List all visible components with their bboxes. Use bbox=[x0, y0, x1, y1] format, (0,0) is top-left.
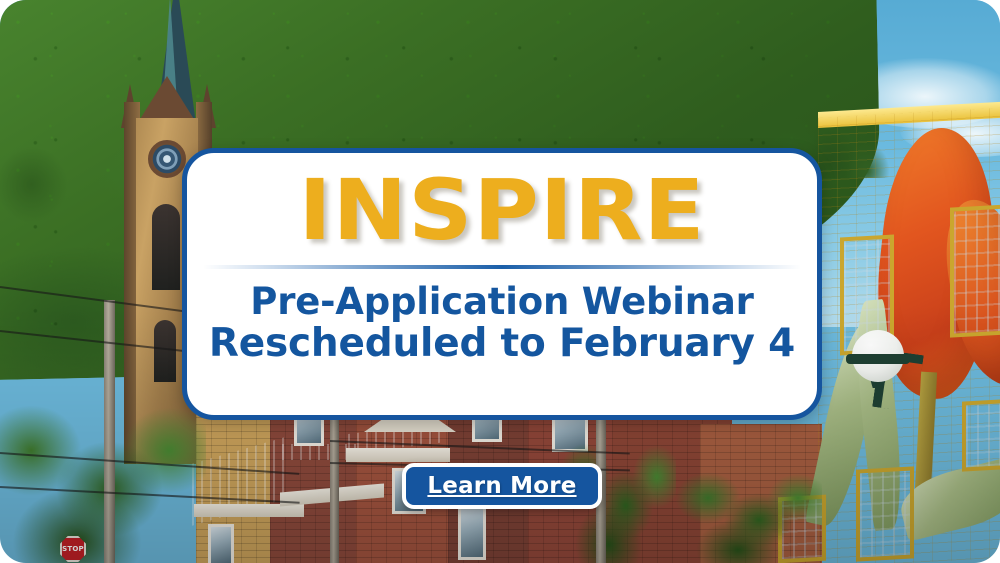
industrial-window bbox=[962, 398, 1000, 471]
utility-pole bbox=[104, 300, 115, 563]
stop-sign-label: STOP bbox=[62, 538, 84, 560]
porch-roof bbox=[194, 504, 304, 517]
announcement-subtitle-line2: Rescheduled to February 4 bbox=[209, 322, 795, 366]
announcement-subtitle: Pre-Application Webinar Rescheduled to F… bbox=[209, 281, 795, 366]
stop-sign: STOP bbox=[60, 536, 86, 562]
street-tree bbox=[672, 468, 822, 563]
street-lamp-cage bbox=[846, 354, 910, 364]
gothic-window bbox=[154, 320, 176, 382]
street-tree bbox=[0, 398, 206, 563]
utility-pole bbox=[330, 414, 339, 563]
rose-window bbox=[148, 140, 186, 178]
page-title: INSPIRE bbox=[299, 171, 706, 251]
porch-roof bbox=[346, 448, 450, 462]
gothic-window bbox=[152, 204, 180, 290]
inspire-webinar-banner: STOP INSPIRE Pre-Application Webinar Res… bbox=[0, 0, 1000, 563]
house-window bbox=[208, 524, 234, 563]
announcement-card: INSPIRE Pre-Application Webinar Reschedu… bbox=[182, 148, 822, 420]
industrial-window bbox=[856, 466, 914, 561]
title-divider bbox=[203, 265, 801, 269]
announcement-subtitle-line1: Pre-Application Webinar bbox=[250, 280, 753, 323]
industrial-window bbox=[950, 204, 1000, 337]
house-door bbox=[458, 504, 486, 560]
learn-more-button[interactable]: Learn More bbox=[402, 463, 602, 509]
